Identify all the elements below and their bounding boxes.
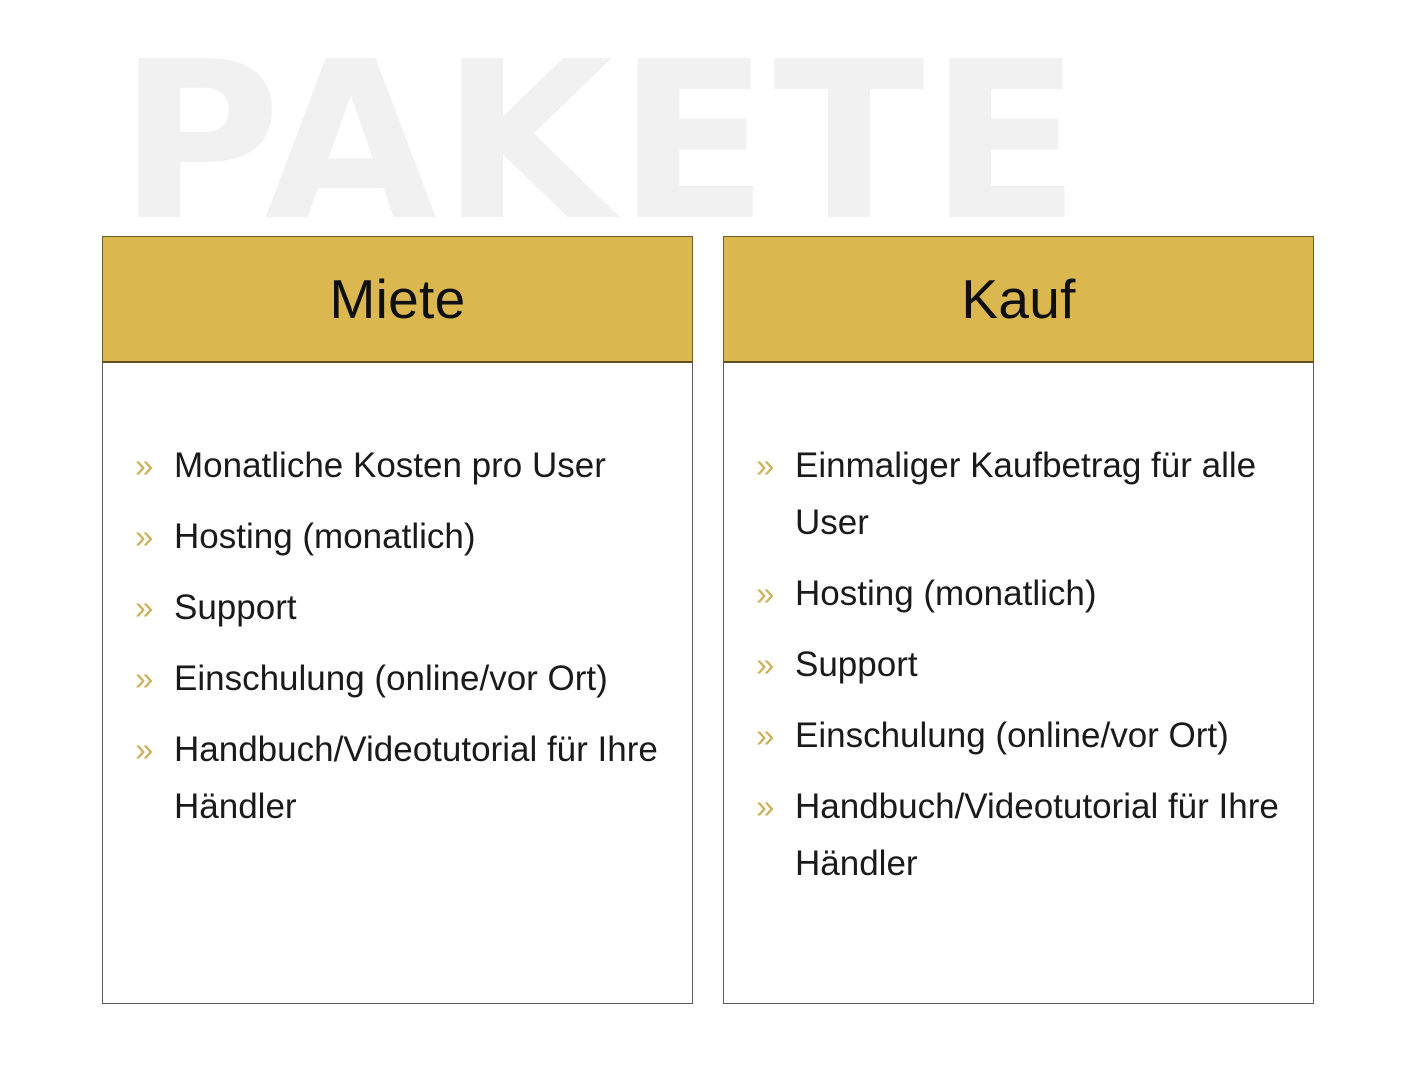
list-item: » Handbuch/Videotutorial für Ihre Händle… xyxy=(135,721,666,835)
list-item-label: Support xyxy=(174,579,666,636)
package-cards-row: Miete » Monatliche Kosten pro User » Hos… xyxy=(0,236,1422,1006)
list-item-label: Einschulung (online/vor Ort) xyxy=(795,707,1287,764)
list-item: » Support xyxy=(135,579,666,636)
list-item-label: Hosting (monatlich) xyxy=(795,565,1287,622)
list-item-label: Handbuch/Videotutorial für Ihre Händler xyxy=(174,721,666,835)
chevron-double-right-icon: » xyxy=(756,565,788,622)
list-item: » Support xyxy=(756,636,1287,693)
chevron-double-right-icon: » xyxy=(135,579,167,636)
slide-canvas: PAKETE Miete » Monatliche Kosten pro Use… xyxy=(0,0,1422,1066)
chevron-double-right-icon: » xyxy=(135,437,167,494)
chevron-double-right-icon: » xyxy=(135,508,167,565)
chevron-double-right-icon: » xyxy=(135,650,167,707)
list-item: » Hosting (monatlich) xyxy=(135,508,666,565)
package-card-miete[interactable]: Miete » Monatliche Kosten pro User » Hos… xyxy=(102,236,693,1004)
card-title-kauf: Kauf xyxy=(961,269,1075,329)
list-item: » Monatliche Kosten pro User xyxy=(135,437,666,494)
list-item: » Einmaliger Kaufbetrag für alle User xyxy=(756,437,1287,551)
list-item-label: Einmaliger Kaufbetrag für alle User xyxy=(795,437,1287,551)
chevron-double-right-icon: » xyxy=(135,721,167,778)
list-item-label: Monatliche Kosten pro User xyxy=(174,437,666,494)
list-item-label: Hosting (monatlich) xyxy=(174,508,666,565)
list-item-label: Handbuch/Videotutorial für Ihre Händler xyxy=(795,778,1287,892)
watermark-pakete: PAKETE xyxy=(118,38,1332,248)
list-item: » Einschulung (online/vor Ort) xyxy=(756,707,1287,764)
card-header-kauf: Kauf xyxy=(723,236,1314,363)
list-item: » Einschulung (online/vor Ort) xyxy=(135,650,666,707)
feature-list-miete: » Monatliche Kosten pro User » Hosting (… xyxy=(135,437,666,835)
list-item: » Hosting (monatlich) xyxy=(756,565,1287,622)
chevron-double-right-icon: » xyxy=(756,778,788,835)
card-title-miete: Miete xyxy=(330,269,466,329)
list-item-label: Support xyxy=(795,636,1287,693)
card-header-miete: Miete xyxy=(102,236,693,363)
chevron-double-right-icon: » xyxy=(756,707,788,764)
feature-list-kauf: » Einmaliger Kaufbetrag für alle User » … xyxy=(756,437,1287,892)
list-item: » Handbuch/Videotutorial für Ihre Händle… xyxy=(756,778,1287,892)
list-item-label: Einschulung (online/vor Ort) xyxy=(174,650,666,707)
chevron-double-right-icon: » xyxy=(756,437,788,494)
package-card-kauf[interactable]: Kauf » Einmaliger Kaufbetrag für alle Us… xyxy=(723,236,1314,1004)
card-body-kauf: » Einmaliger Kaufbetrag für alle User » … xyxy=(723,363,1314,1004)
chevron-double-right-icon: » xyxy=(756,636,788,693)
card-body-miete: » Monatliche Kosten pro User » Hosting (… xyxy=(102,363,693,1004)
